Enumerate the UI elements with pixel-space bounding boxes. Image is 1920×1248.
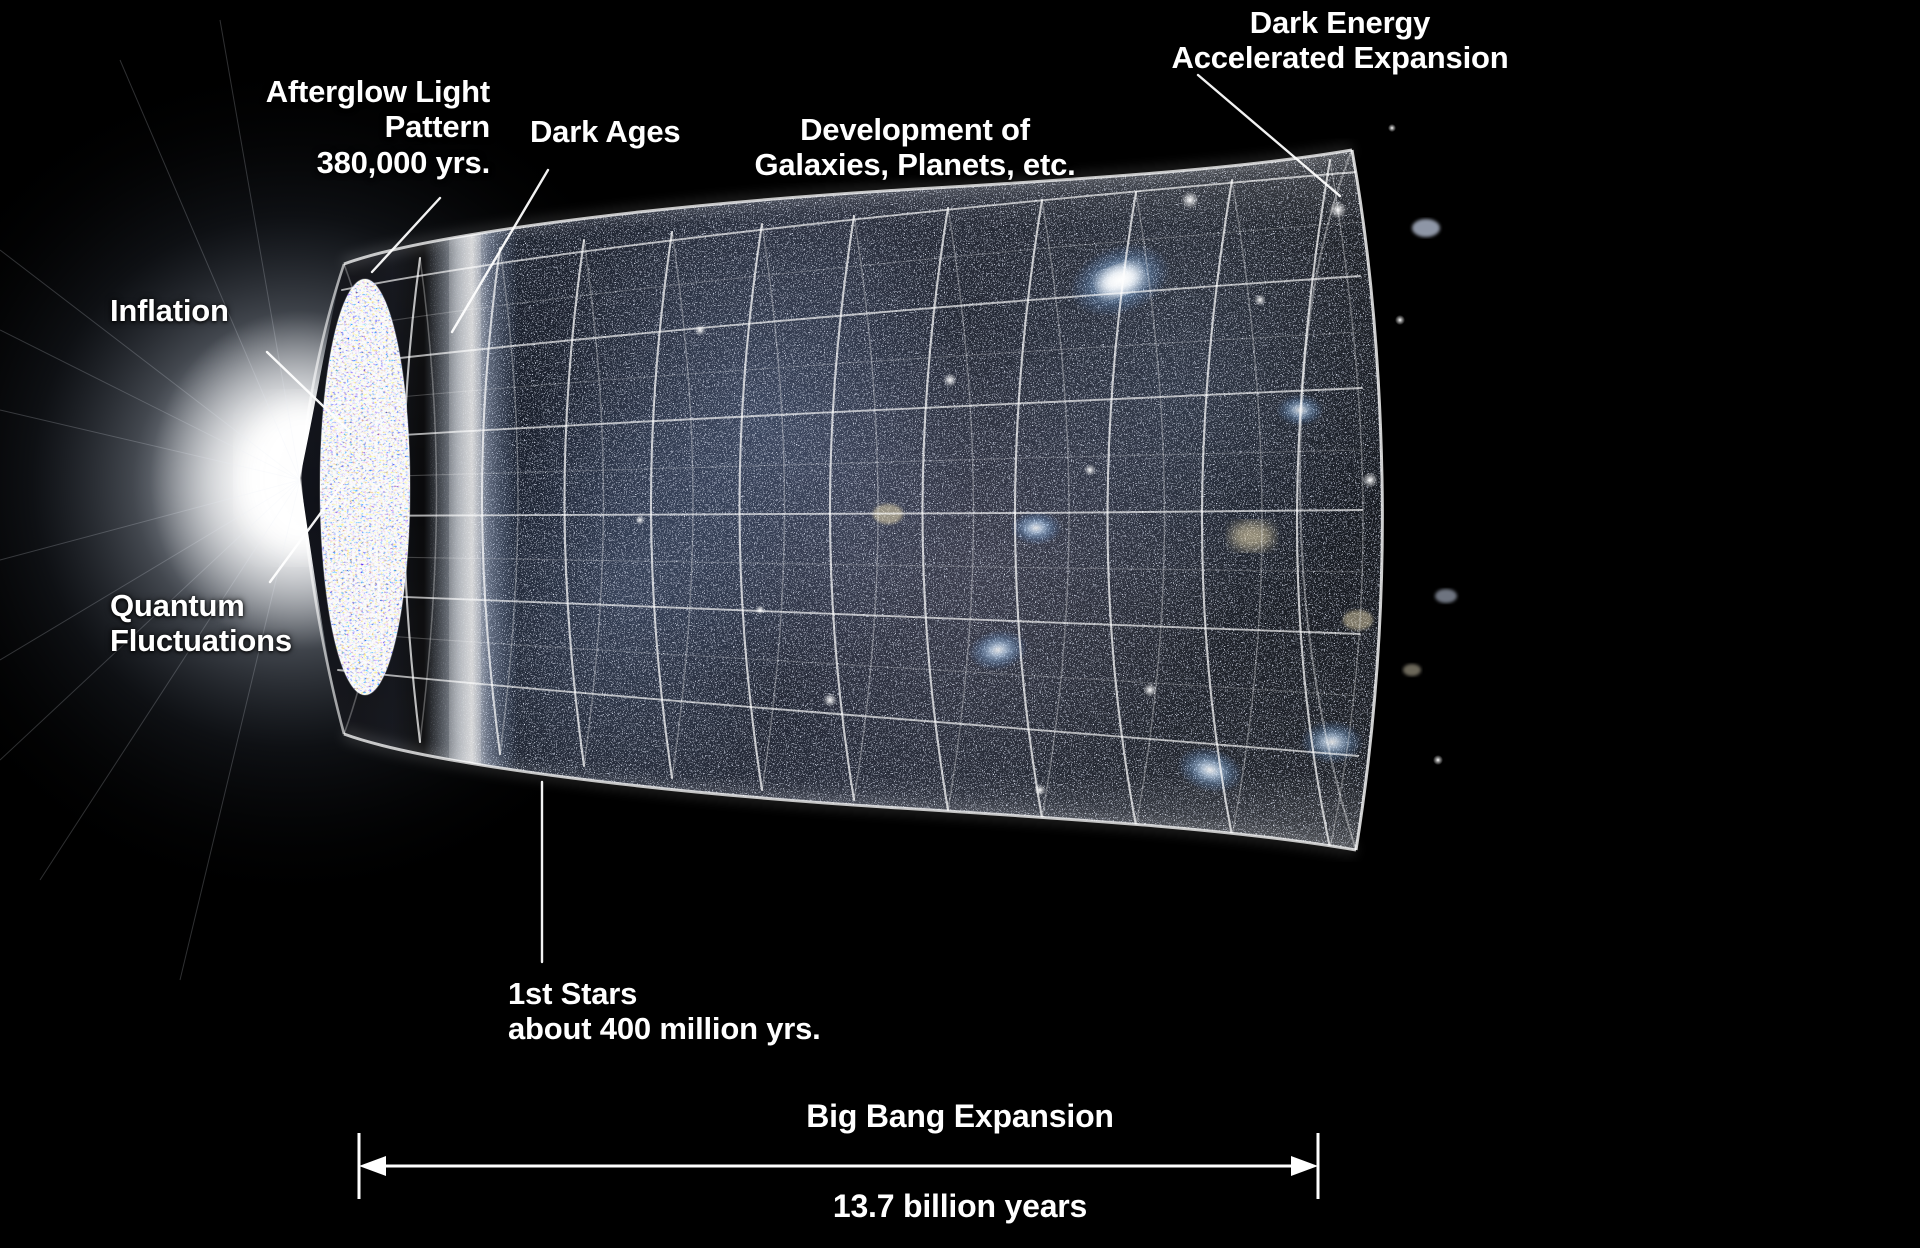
universe-timeline-figure: Afterglow Light Pattern 380,000 yrs. Dar… [0,0,1920,1248]
cosmic-cone-artwork [0,0,1920,1248]
